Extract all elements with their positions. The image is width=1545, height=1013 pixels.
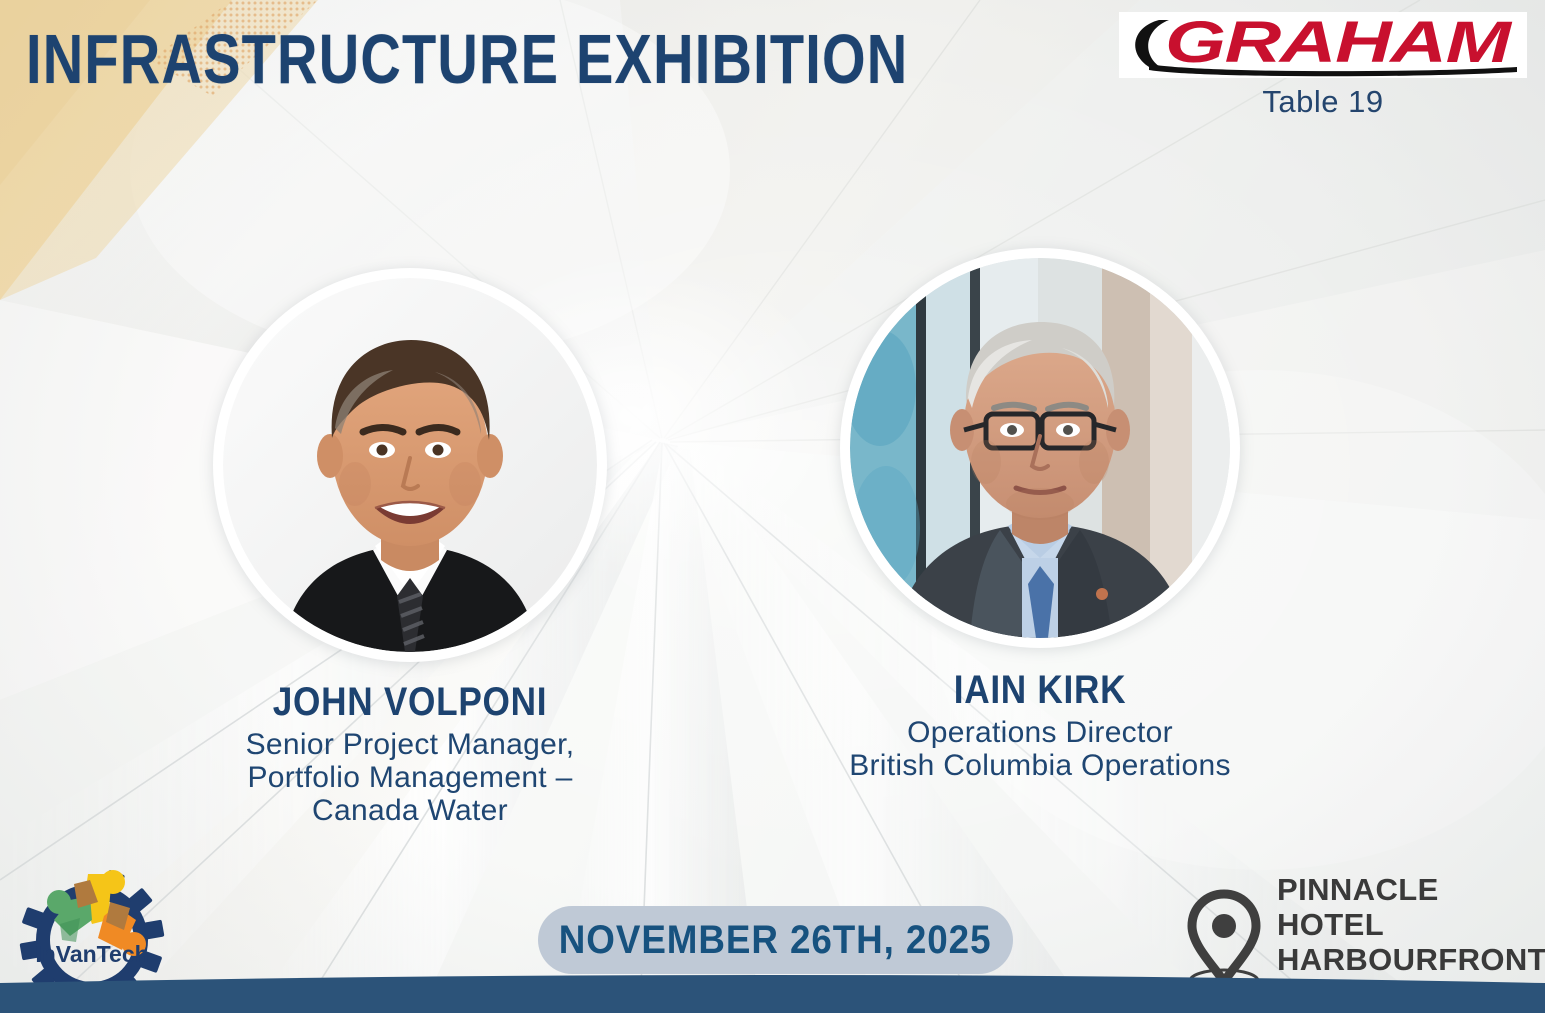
avatar-frame-1 (213, 268, 607, 662)
svg-text:GRAHAM: GRAHAM (1165, 12, 1512, 75)
speaker-name: JOHN VOLPONI (190, 680, 630, 724)
event-date-text: NOVEMBER 26TH, 2025 (559, 918, 992, 963)
sponsor-logo-block: GRAHAM Table 19 (1119, 12, 1527, 120)
speaker-role: Senior Project Manager, Portfolio Manage… (160, 728, 660, 827)
speaker-role: Operations Director British Columbia Ope… (790, 716, 1290, 782)
avatar (850, 258, 1230, 638)
speaker-card-1: JOHN VOLPONI Senior Project Manager, Por… (160, 268, 660, 827)
poster-canvas: INFRASTRUCTURE EXHIBITION GRAHAM Table 1… (0, 0, 1545, 1013)
table-number-label: Table 19 (1119, 84, 1527, 120)
bottom-accent-band (0, 967, 1545, 1013)
page-title: INFRASTRUCTURE EXHIBITION (26, 20, 908, 98)
speaker-name: IAIN KIRK (820, 668, 1260, 712)
organizer-name: InVanTech (35, 941, 148, 967)
speaker-card-2: IAIN KIRK Operations Director British Co… (790, 248, 1290, 782)
event-date-badge: NOVEMBER 26TH, 2025 (538, 906, 1013, 974)
avatar (223, 278, 597, 652)
graham-logo: GRAHAM (1119, 12, 1527, 78)
avatar-frame-2 (840, 248, 1240, 648)
